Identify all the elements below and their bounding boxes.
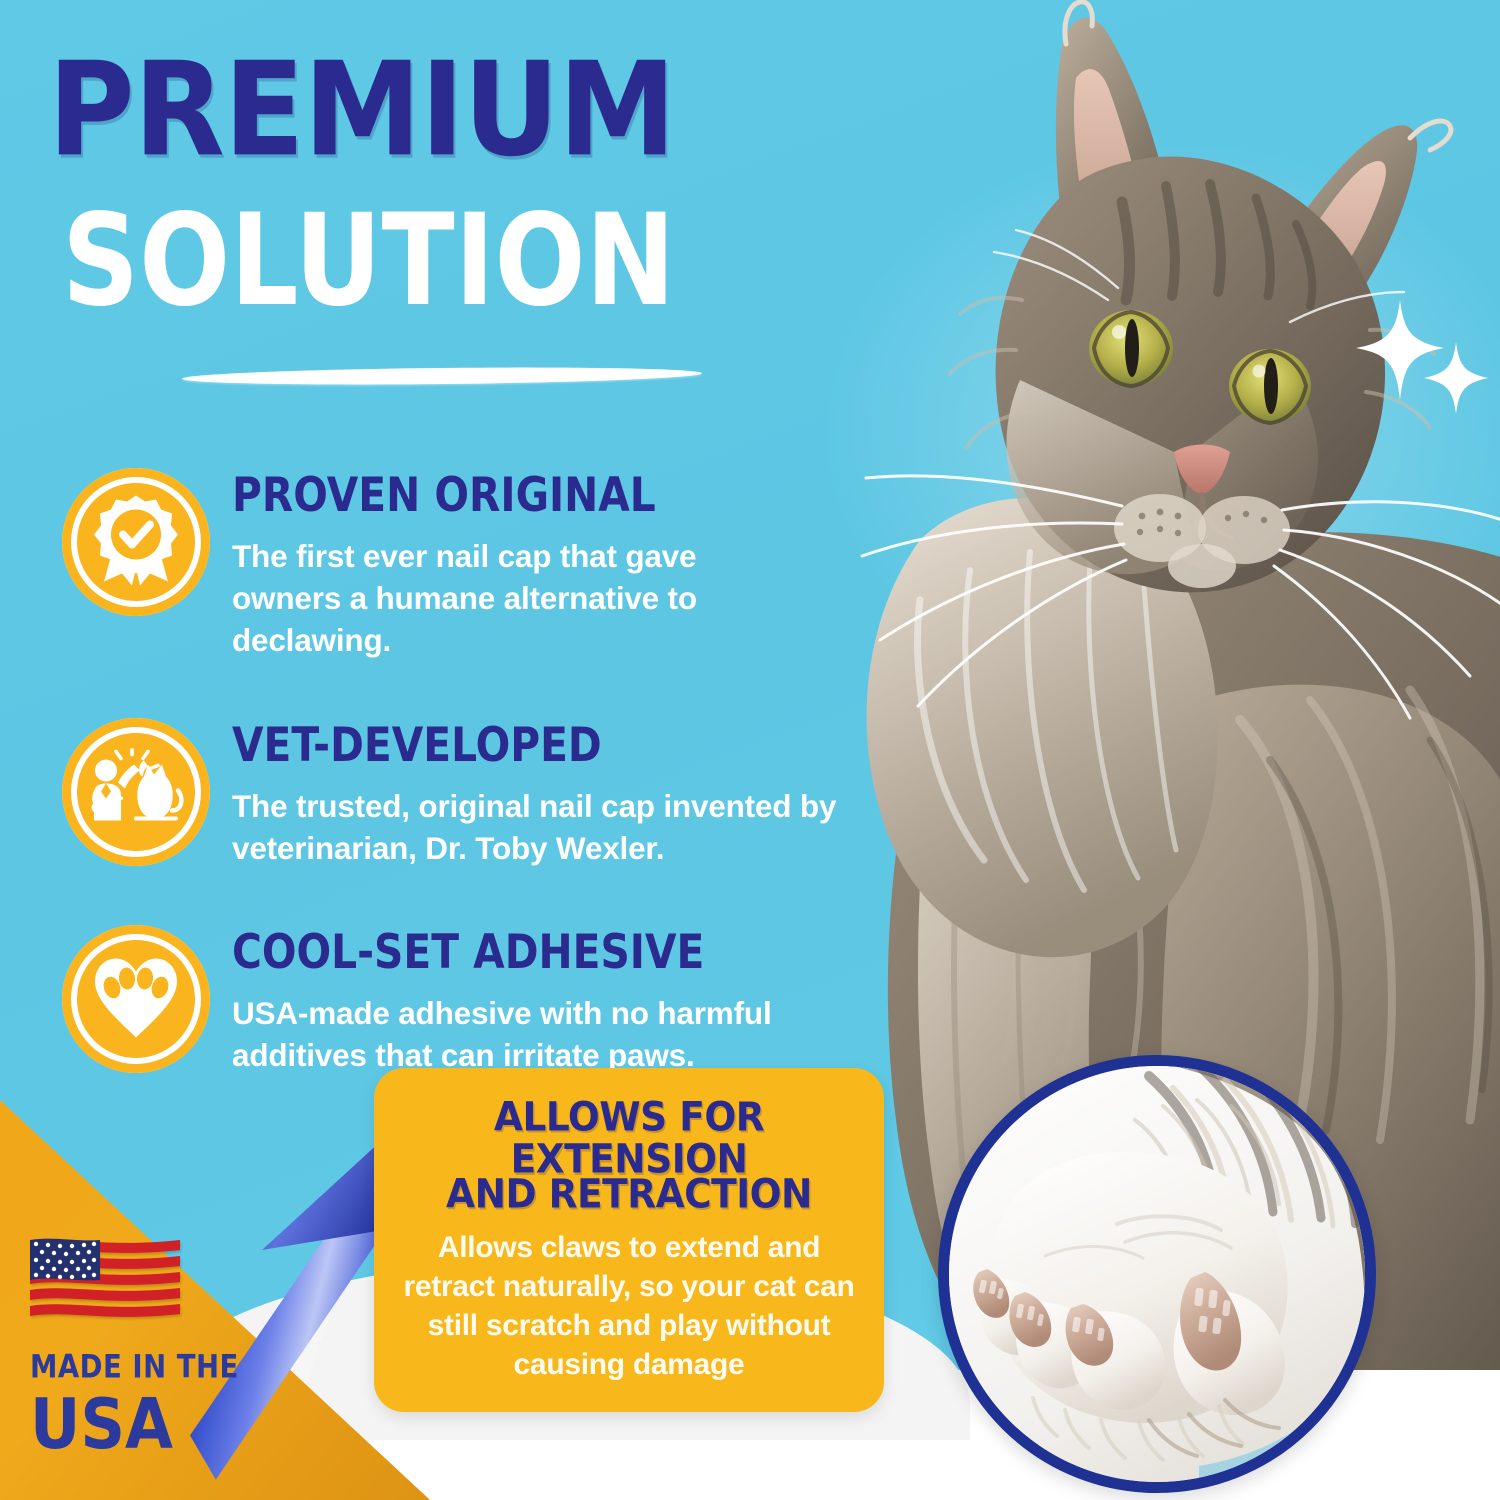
feature-title: VET-DEVELOPED <box>232 722 853 769</box>
made-in-usa-line-1: MADE IN THE <box>30 1348 258 1385</box>
sparkle-icon <box>1352 296 1492 421</box>
extension-retraction-callout: ALLOWS FOR EXTENSION AND RETRACTION Allo… <box>374 1068 884 1412</box>
feature-item: PROVEN ORIGINAL The first ever nail cap … <box>62 466 872 662</box>
usa-flag-icon <box>30 1236 180 1328</box>
made-in-usa-badge: MADE IN THE USA <box>30 1236 270 1452</box>
paw-closeup-inset <box>938 1055 1376 1493</box>
feature-title: PROVEN ORIGINAL <box>232 472 853 519</box>
feature-title: COOL-SET ADHESIVE <box>232 929 853 976</box>
feature-body: The trusted, original nail cap invented … <box>232 785 852 869</box>
feature-list: PROVEN ORIGINAL The first ever nail cap … <box>62 466 872 1130</box>
heart-paw-icon <box>62 925 210 1073</box>
callout-body: Allows claws to extend and retract natur… <box>396 1228 862 1384</box>
feature-body: USA-made adhesive with no harmful additi… <box>232 992 832 1076</box>
feature-item: VET-DEVELOPED The trusted, original nail… <box>62 716 872 869</box>
callout-title-line-1: ALLOWS FOR EXTENSION <box>396 1096 862 1179</box>
callout-title-line-2: AND RETRACTION <box>396 1173 862 1215</box>
made-in-usa-line-2: USA <box>30 1390 270 1459</box>
headline-line-1: PREMIUM <box>48 48 895 173</box>
veterinarian-high-five-cat-icon <box>62 718 210 866</box>
award-ribbon-icon <box>62 468 210 616</box>
feature-body: The first ever nail cap that gave owners… <box>232 535 752 662</box>
headline-line-2: SOLUTION <box>62 199 902 323</box>
feature-item: COOL-SET ADHESIVE USA-made adhesive with… <box>62 923 872 1076</box>
product-feature-poster: PREMIUM SOLUTION <box>0 0 1500 1500</box>
headline-block: PREMIUM SOLUTION <box>48 48 878 301</box>
